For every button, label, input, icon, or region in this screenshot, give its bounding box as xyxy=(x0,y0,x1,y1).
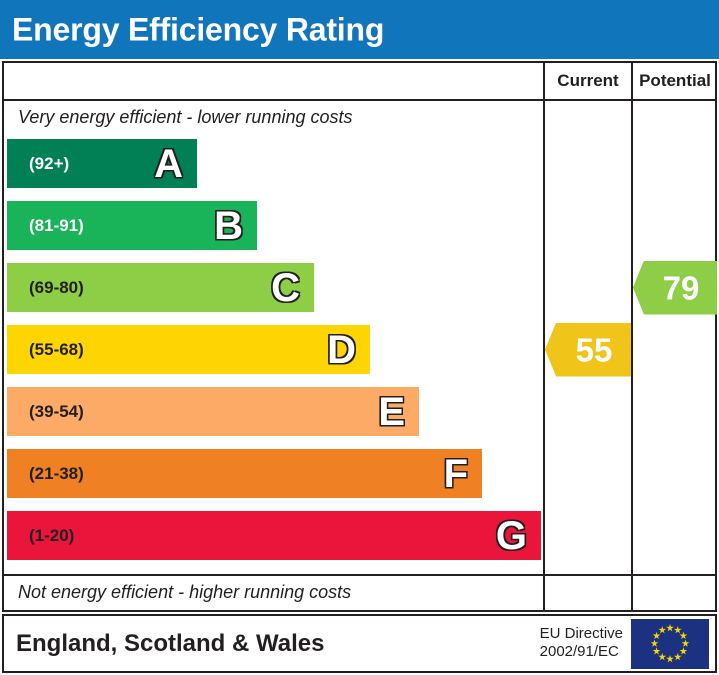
band-range-a: (92+) xyxy=(29,154,69,174)
directive-line-2: 2002/91/EC xyxy=(540,644,623,663)
title-bar: Energy Efficiency Rating xyxy=(0,0,719,59)
band-range-f: (21-38) xyxy=(29,464,84,484)
rating-marker-potential: 79 xyxy=(633,261,717,315)
band-row-b: (81-91)B xyxy=(7,201,257,250)
column-header-current: Current xyxy=(545,63,631,99)
band-row-g: (1-20)G xyxy=(7,511,541,560)
column-header-potential: Potential xyxy=(633,63,717,99)
rating-table: Current Potential Very energy efficient … xyxy=(2,61,717,612)
band-range-c: (69-80) xyxy=(29,278,84,298)
eu-star-icon xyxy=(679,632,687,640)
band-range-g: (1-20) xyxy=(29,526,74,546)
band-letter-d: D xyxy=(327,330,356,370)
eu-star-icon xyxy=(658,653,666,661)
eu-star-icon xyxy=(651,640,659,648)
band-letter-f: F xyxy=(444,454,468,494)
eu-star-icon xyxy=(666,624,674,632)
header-divider xyxy=(4,99,715,101)
eu-star-icon xyxy=(658,626,666,634)
eu-star-icon xyxy=(653,632,661,640)
band-letter-c: C xyxy=(271,268,300,308)
column-divider-potential xyxy=(631,63,633,610)
rating-value-current: 55 xyxy=(545,333,631,366)
eu-star-icon xyxy=(674,626,682,634)
band-range-e: (39-54) xyxy=(29,402,84,422)
band-row-c: (69-80)C xyxy=(7,263,314,312)
band-row-f: (21-38)F xyxy=(7,449,482,498)
band-range-b: (81-91) xyxy=(29,216,84,236)
caption-bottom: Not energy efficient - higher running co… xyxy=(18,582,351,603)
footer-divider xyxy=(4,574,715,576)
energy-efficiency-rating-chart: Energy Efficiency Rating Current Potenti… xyxy=(0,0,719,675)
caption-top: Very energy efficient - lower running co… xyxy=(18,107,353,128)
eu-star-icon xyxy=(653,647,661,655)
footer-region-label: England, Scotland & Wales xyxy=(16,630,324,658)
band-row-e: (39-54)E xyxy=(7,387,419,436)
band-letter-g: G xyxy=(496,516,527,556)
band-letter-e: E xyxy=(378,392,405,432)
eu-flag-icon xyxy=(631,619,709,669)
rating-value-potential: 79 xyxy=(633,271,717,304)
page-title: Energy Efficiency Rating xyxy=(12,11,384,48)
eu-star-icon xyxy=(674,653,682,661)
band-range-d: (55-68) xyxy=(29,340,84,360)
eu-star-icon xyxy=(682,640,690,648)
column-divider-current xyxy=(543,63,545,610)
footer-bar: England, Scotland & Wales EU Directive 2… xyxy=(2,614,717,673)
footer-directive-label: EU Directive 2002/91/EC xyxy=(540,625,623,663)
band-row-d: (55-68)D xyxy=(7,325,370,374)
eu-star-icon xyxy=(679,647,687,655)
band-row-a: (92+)A xyxy=(7,139,197,188)
band-letter-b: B xyxy=(214,206,243,246)
band-letter-a: A xyxy=(154,144,183,184)
eu-star-icon xyxy=(666,655,674,663)
band-list: (92+)A(81-91)B(69-80)C(55-68)D(39-54)E(2… xyxy=(4,139,543,573)
rating-marker-current: 55 xyxy=(545,323,631,377)
directive-line-1: EU Directive xyxy=(540,625,623,644)
